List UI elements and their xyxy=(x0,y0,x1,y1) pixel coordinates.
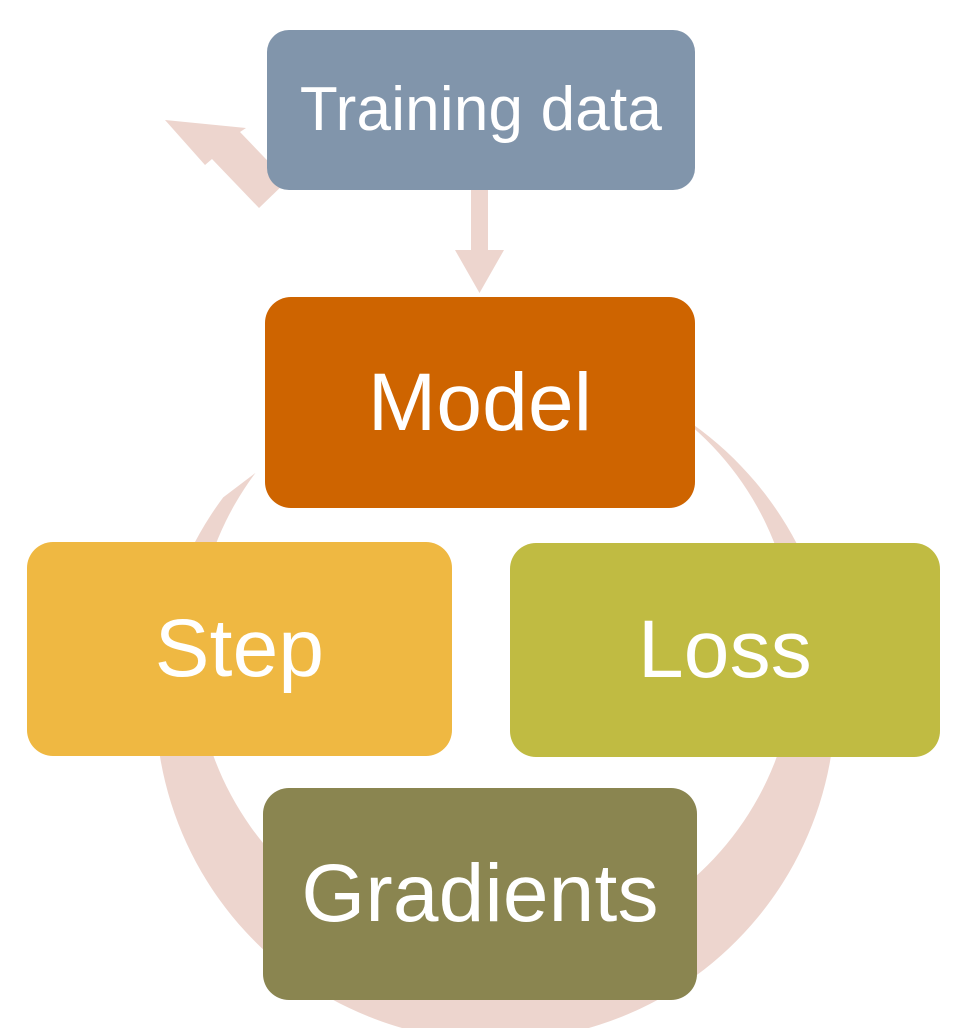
feed-arrow-shape xyxy=(455,185,504,293)
node-gradients[interactable]: Gradients xyxy=(263,788,697,1000)
diagram-canvas: Training data Model Loss Gradients Step xyxy=(0,0,969,1028)
node-loss[interactable]: Loss xyxy=(510,543,940,757)
node-step[interactable]: Step xyxy=(27,542,452,756)
node-model-label: Model xyxy=(368,362,592,444)
node-training-data[interactable]: Training data xyxy=(267,30,695,190)
node-loss-label: Loss xyxy=(638,609,812,691)
node-training-data-label: Training data xyxy=(300,79,662,141)
node-model[interactable]: Model xyxy=(265,297,695,508)
node-step-label: Step xyxy=(155,608,325,690)
node-gradients-label: Gradients xyxy=(301,853,658,935)
